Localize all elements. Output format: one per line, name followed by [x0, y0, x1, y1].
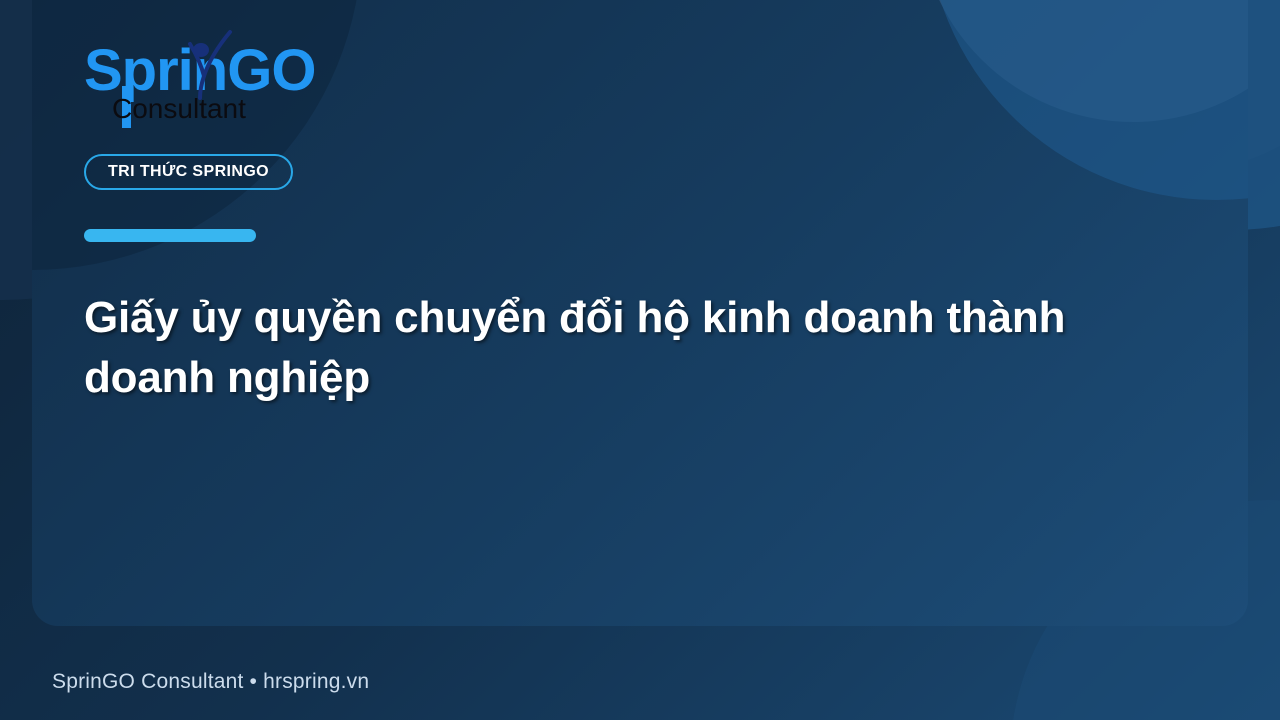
slide-canvas: SprinGO Consultant TRI THỨC SPRINGO Gi: [0, 0, 1280, 720]
page-title: Giấy ủy quyền chuyển đổi hộ kinh doanh t…: [84, 288, 1194, 408]
knowledge-category-badge-label: TRI THỨC SPRINGO: [108, 163, 269, 181]
logo-subtext: Consultant: [112, 95, 246, 123]
title-accent-bar: [84, 229, 256, 242]
content-card: SprinGO Consultant TRI THỨC SPRINGO Gi: [32, 0, 1248, 626]
knowledge-category-badge[interactable]: TRI THỨC SPRINGO: [84, 154, 293, 190]
card-content-layer: SprinGO Consultant TRI THỨC SPRINGO Gi: [32, 0, 1248, 626]
footer-attribution: SprinGO Consultant • hrspring.vn: [52, 670, 369, 694]
brand-logo[interactable]: SprinGO Consultant: [52, 42, 352, 152]
